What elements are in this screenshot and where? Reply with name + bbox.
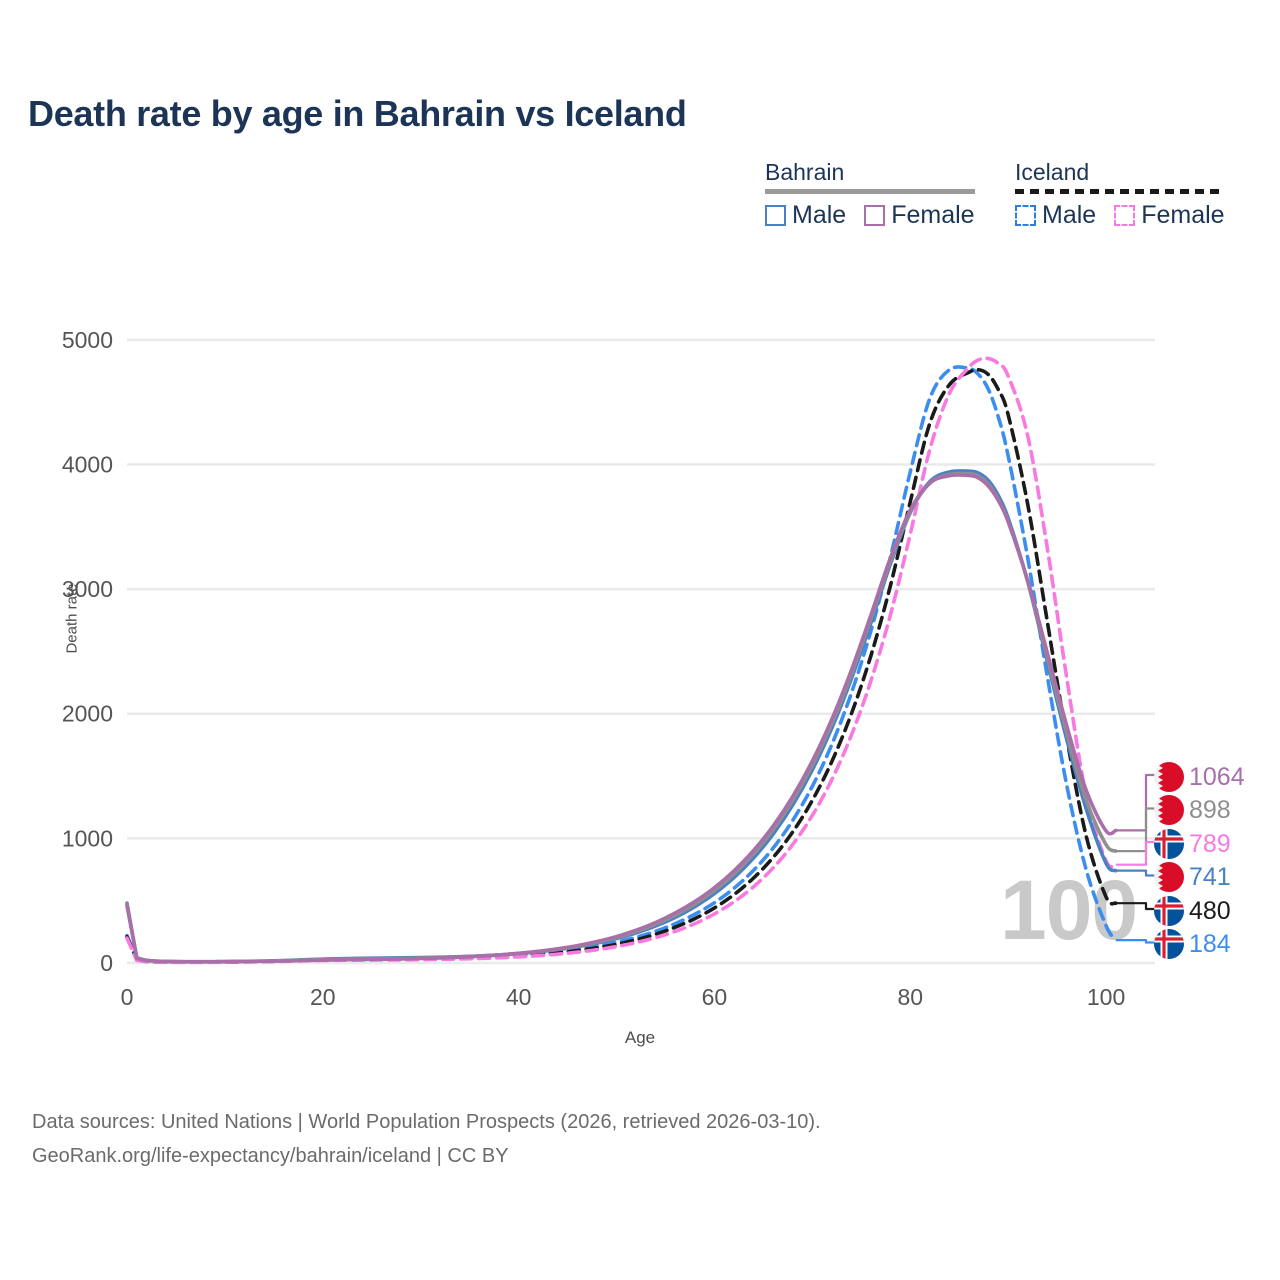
x-axis-tick-label: 100 <box>1087 984 1125 1010</box>
x-axis-tick-label: 40 <box>506 984 532 1010</box>
series-end-value: 741 <box>1189 862 1231 892</box>
y-axis-tick-label: 5000 <box>62 327 113 353</box>
chart-page: Death rate by age in Bahrain vs Iceland … <box>0 0 1280 1280</box>
bahrain-flag-icon <box>1154 862 1184 892</box>
series-line <box>127 473 1116 961</box>
series-end-label-row: 789 <box>1154 827 1231 860</box>
end-label-leader-line <box>1116 871 1156 876</box>
x-axis-tick-label: 0 <box>121 984 134 1010</box>
footer-credits: Data sources: United Nations | World Pop… <box>32 1105 821 1173</box>
series-line <box>127 358 1116 962</box>
series-end-value: 480 <box>1189 896 1231 926</box>
series-end-label-row: 1064 <box>1154 760 1245 793</box>
y-axis-tick-label: 0 <box>100 950 113 976</box>
iceland-flag-icon <box>1154 829 1184 859</box>
footer-line-url[interactable]: GeoRank.org/life-expectancy/bahrain/icel… <box>32 1139 821 1173</box>
y-axis-tick-label: 2000 <box>62 701 113 727</box>
series-end-value: 1064 <box>1189 762 1245 792</box>
bahrain-flag-icon <box>1154 795 1184 825</box>
x-axis-title: Age <box>540 1028 740 1048</box>
x-axis-tick-label: 60 <box>702 984 728 1010</box>
x-axis-tick-label: 80 <box>897 984 923 1010</box>
series-end-label-row: 741 <box>1154 861 1231 894</box>
y-axis-title: Death rate <box>64 539 81 699</box>
series-end-label-row: 898 <box>1154 794 1231 827</box>
series-line <box>127 370 1116 963</box>
end-label-leader-line <box>1116 903 1156 909</box>
series-end-value: 789 <box>1189 829 1231 859</box>
series-end-value: 898 <box>1189 795 1231 825</box>
bahrain-flag-icon <box>1154 762 1184 792</box>
series-line <box>127 367 1116 962</box>
iceland-flag-icon <box>1154 896 1184 926</box>
end-label-leader-line <box>1116 775 1156 830</box>
series-line <box>127 475 1116 962</box>
end-label-leader-line <box>1116 842 1156 865</box>
plot-area: 010002000300040005000020406080100 <box>0 0 1280 1080</box>
y-axis-tick-label: 1000 <box>62 825 113 851</box>
footer-line-sources: Data sources: United Nations | World Pop… <box>32 1105 821 1139</box>
series-end-label-row: 184 <box>1154 928 1231 961</box>
series-end-label-row: 480 <box>1154 894 1231 927</box>
iceland-flag-icon <box>1154 929 1184 959</box>
x-axis-tick-label: 20 <box>310 984 336 1010</box>
end-label-leader-line <box>1116 940 1156 942</box>
y-axis-tick-label: 4000 <box>62 451 113 477</box>
series-end-value: 184 <box>1189 929 1231 959</box>
series-line <box>127 471 1116 962</box>
series-end-labels: 1064898789741480184 <box>1154 760 1280 970</box>
death-rate-line-chart: 010002000300040005000020406080100 <box>0 0 1280 1080</box>
